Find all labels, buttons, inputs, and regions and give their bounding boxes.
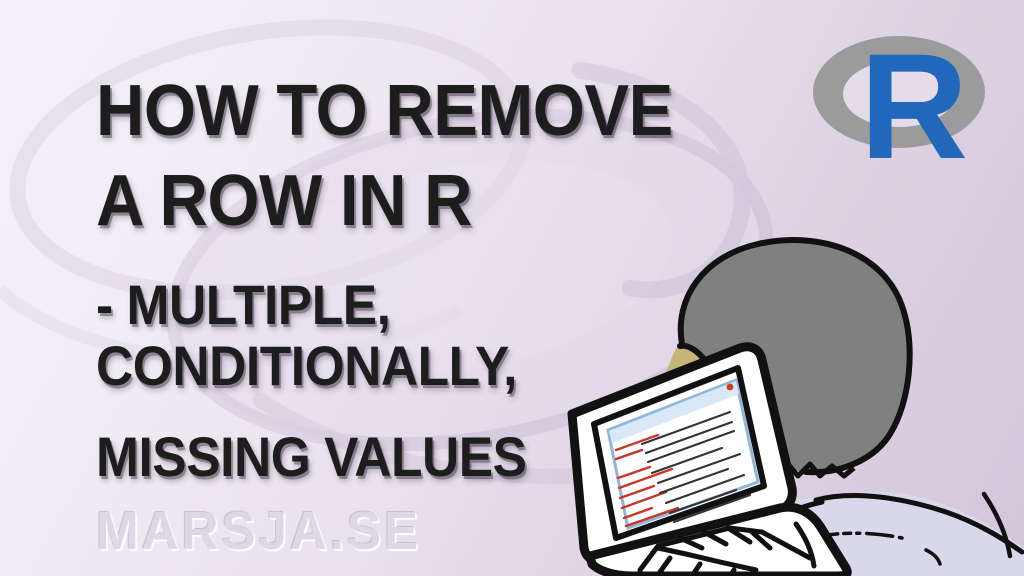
subtitle-line-2: CONDITIONALLY, [96, 333, 517, 398]
subtitle-line-1: - MULTIPLE, [96, 272, 390, 337]
title-line-1: HOW TO REMOVE [96, 70, 673, 152]
subtitle-line-3: MISSING VALUES [96, 424, 527, 489]
person-at-laptop-illustration [554, 226, 1024, 576]
thumbnail-canvas: R HOW TO REMOVE A ROW IN R - MULTIPLE, C… [0, 0, 1024, 576]
title-line-2: A ROW IN R [96, 160, 472, 242]
site-watermark: MARSJA.SE [96, 500, 421, 562]
